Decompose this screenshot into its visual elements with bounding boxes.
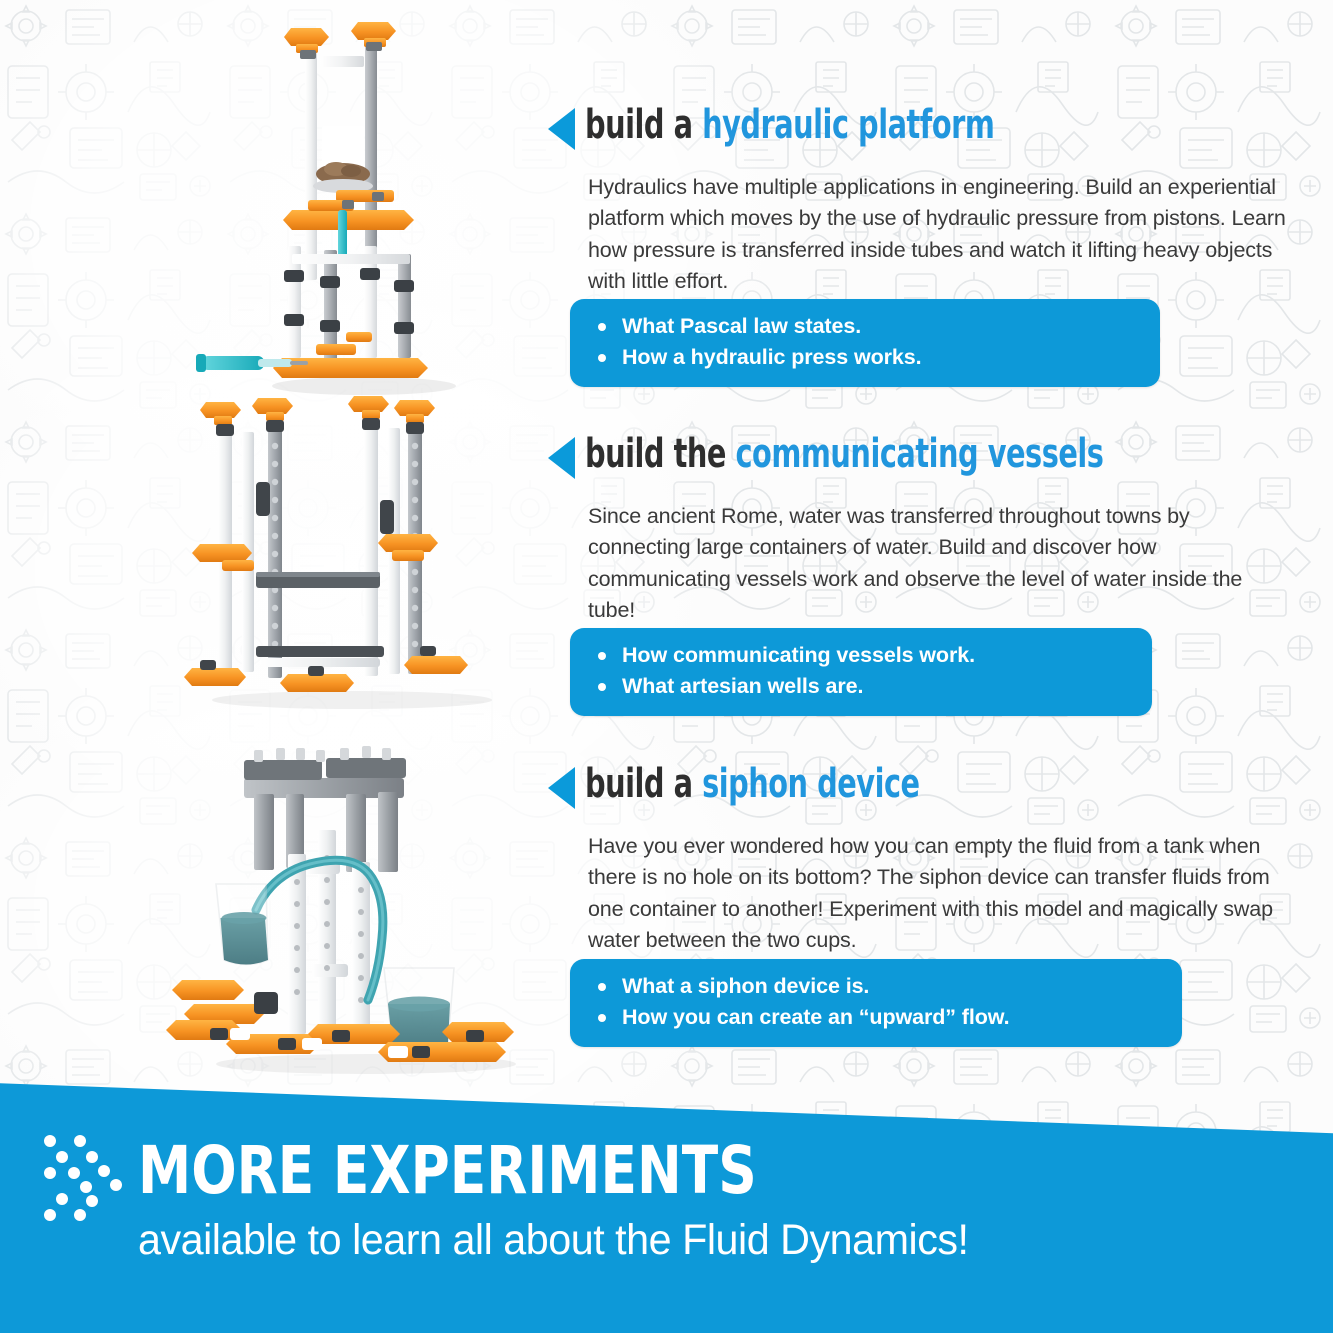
section-body-text: Since ancient Rome, water was transferre… — [588, 501, 1288, 627]
callout-item: How communicating vessels work. — [596, 640, 1126, 671]
section-heading-row: build a hydraulic platform — [548, 103, 1288, 150]
banner-title: MORE EXPERIMENTS — [138, 1137, 757, 1205]
section-headline: build a hydraulic platform — [585, 103, 994, 147]
section-headline: build the communicating vessels — [585, 432, 1103, 476]
dot-chevron-logo-icon — [36, 1125, 136, 1230]
headline-accent: communicating vessels — [735, 431, 1103, 477]
headline-prefix: build the — [585, 431, 735, 477]
infographic-poster: build a hydraulic platform Hydraulics ha… — [0, 0, 1333, 1333]
section-heading-row: build a siphon device — [548, 762, 1288, 809]
headline-accent: siphon device — [702, 761, 920, 807]
callout-item: How a hydraulic press works. — [596, 342, 1134, 373]
callout-item: What Pascal law states. — [596, 311, 1134, 342]
headline-accent: hydraulic platform — [702, 102, 994, 148]
section-hydraulic-platform: build a hydraulic platform Hydraulics ha… — [548, 103, 1288, 319]
headline-prefix: build a — [585, 102, 702, 148]
section-body-text: Hydraulics have multiple applications in… — [588, 172, 1288, 298]
callout-siphon-device: What a siphon device is. How you can cre… — [570, 959, 1182, 1047]
headline-prefix: build a — [585, 761, 702, 807]
section-heading-row: build the communicating vessels — [548, 432, 1288, 479]
callout-item: What a siphon device is. — [596, 971, 1156, 1002]
callout-communicating-vessels: How communicating vessels work. What art… — [570, 628, 1152, 716]
callout-list: How communicating vessels work. What art… — [596, 640, 1126, 702]
banner-subtitle: available to learn all about the Fluid D… — [138, 1215, 969, 1265]
section-siphon-device: build a siphon device Have you ever wond… — [548, 762, 1288, 978]
callout-item: What artesian wells are. — [596, 671, 1126, 702]
section-headline: build a siphon device — [585, 762, 920, 806]
triangle-left-icon — [548, 108, 575, 150]
callout-list: What Pascal law states. How a hydraulic … — [596, 311, 1134, 373]
callout-hydraulic-platform: What Pascal law states. How a hydraulic … — [570, 299, 1160, 387]
section-body-text: Have you ever wondered how you can empty… — [588, 831, 1288, 957]
callout-list: What a siphon device is. How you can cre… — [596, 971, 1156, 1033]
section-communicating-vessels: build the communicating vessels Since an… — [548, 432, 1288, 648]
callout-item: How you can create an “upward” flow. — [596, 1002, 1156, 1033]
triangle-left-icon — [548, 767, 575, 809]
triangle-left-icon — [548, 437, 575, 479]
